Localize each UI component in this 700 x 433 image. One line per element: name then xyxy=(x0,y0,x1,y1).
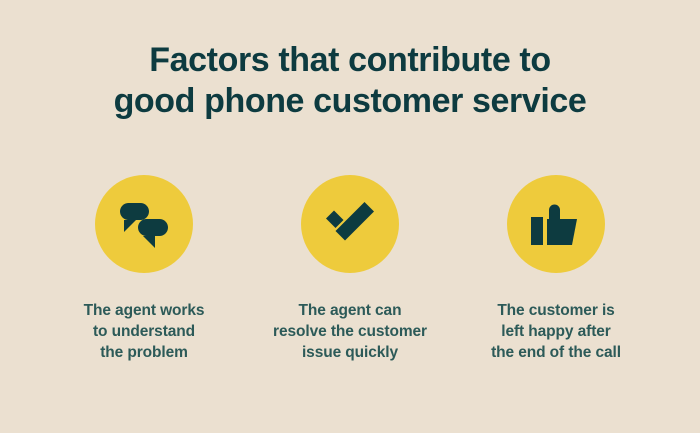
caption-1-line-2: to understand xyxy=(84,321,205,342)
factor-item-3: The customer is left happy after the end… xyxy=(453,175,659,363)
speech-bubbles-icon xyxy=(116,196,172,252)
infographic-poster: Factors that contribute to good phone cu… xyxy=(0,0,700,433)
page-title: Factors that contribute to good phone cu… xyxy=(0,40,700,122)
caption-2-line-3: issue quickly xyxy=(273,342,427,363)
caption-2-line-1: The agent can xyxy=(273,300,427,321)
checkmark-icon xyxy=(322,196,378,252)
factor-caption-1: The agent works to understand the proble… xyxy=(84,300,205,363)
factors-row: The agent works to understand the proble… xyxy=(0,175,700,363)
caption-2-line-2: resolve the customer xyxy=(273,321,427,342)
caption-3-line-3: the end of the call xyxy=(491,342,621,363)
icon-circle-2 xyxy=(301,175,399,273)
icon-circle-1 xyxy=(95,175,193,273)
caption-3-line-2: left happy after xyxy=(491,321,621,342)
caption-1-line-1: The agent works xyxy=(84,300,205,321)
caption-3-line-1: The customer is xyxy=(491,300,621,321)
factor-caption-2: The agent can resolve the customer issue… xyxy=(273,300,427,363)
icon-circle-3 xyxy=(507,175,605,273)
title-line-1: Factors that contribute to xyxy=(0,40,700,81)
caption-1-line-3: the problem xyxy=(84,342,205,363)
factor-caption-3: The customer is left happy after the end… xyxy=(491,300,621,363)
thumbs-up-icon xyxy=(529,197,583,251)
factor-item-1: The agent works to understand the proble… xyxy=(41,175,247,363)
factor-item-2: The agent can resolve the customer issue… xyxy=(247,175,453,363)
title-line-2: good phone customer service xyxy=(0,81,700,122)
